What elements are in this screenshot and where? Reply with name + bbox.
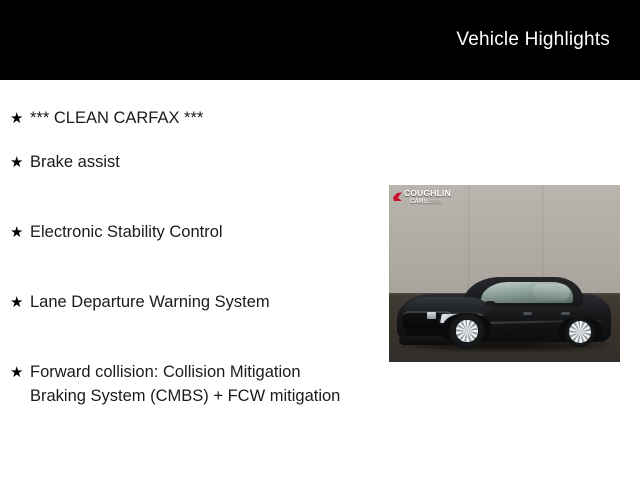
list-item: ★ Brake assist <box>0 151 370 221</box>
vehicle-photo[interactable]: COUGHLIN CARS.com <box>389 185 620 362</box>
star-bullet-icon: ★ <box>10 221 30 244</box>
vehicle-highlights-list: ★ *** CLEAN CARFAX *** ★ Brake assist ★ … <box>0 80 370 431</box>
list-item: ★ Lane Departure Warning System <box>0 291 370 361</box>
list-item: ★ Forward collision: Collision Mitigatio… <box>0 361 370 431</box>
vehicle-windshield <box>481 282 573 303</box>
highlight-text: Electronic Stability Control <box>30 221 370 245</box>
highlight-text: Lane Departure Warning System <box>30 291 370 315</box>
watermark-brand: COUGHLIN <box>404 189 451 198</box>
dealer-watermark: COUGHLIN CARS.com <box>393 189 451 205</box>
header-bar: Vehicle Highlights <box>0 0 640 80</box>
highlight-text: Forward collision: Collision Mitigation … <box>30 361 370 408</box>
vehicle-side-mirror <box>485 301 496 307</box>
vehicle-door-handle <box>523 312 532 315</box>
vehicle-emblem-icon <box>427 312 436 319</box>
star-bullet-icon: ★ <box>10 107 30 130</box>
vehicle-front-wheel <box>449 313 485 349</box>
list-item: ★ *** CLEAN CARFAX *** <box>0 80 370 151</box>
page-title: Vehicle Highlights <box>456 29 610 51</box>
star-bullet-icon: ★ <box>10 151 30 174</box>
star-bullet-icon: ★ <box>10 291 30 314</box>
star-bullet-icon: ★ <box>10 361 30 384</box>
vehicle-rear-wheel <box>565 317 595 347</box>
vehicle-illustration <box>397 263 611 349</box>
watermark-text: COUGHLIN CARS.com <box>404 189 451 205</box>
watermark-subbrand: CARS.com <box>410 199 451 205</box>
vehicle-door-handle <box>561 312 570 315</box>
watermark-subbrand-suffix: .com <box>428 199 442 205</box>
watermark-subbrand-main: CARS <box>410 199 428 205</box>
list-item: ★ Electronic Stability Control <box>0 221 370 291</box>
coughlin-logo-icon <box>393 192 402 201</box>
highlight-text: *** CLEAN CARFAX *** <box>30 107 370 131</box>
highlight-text: Brake assist <box>30 151 370 175</box>
